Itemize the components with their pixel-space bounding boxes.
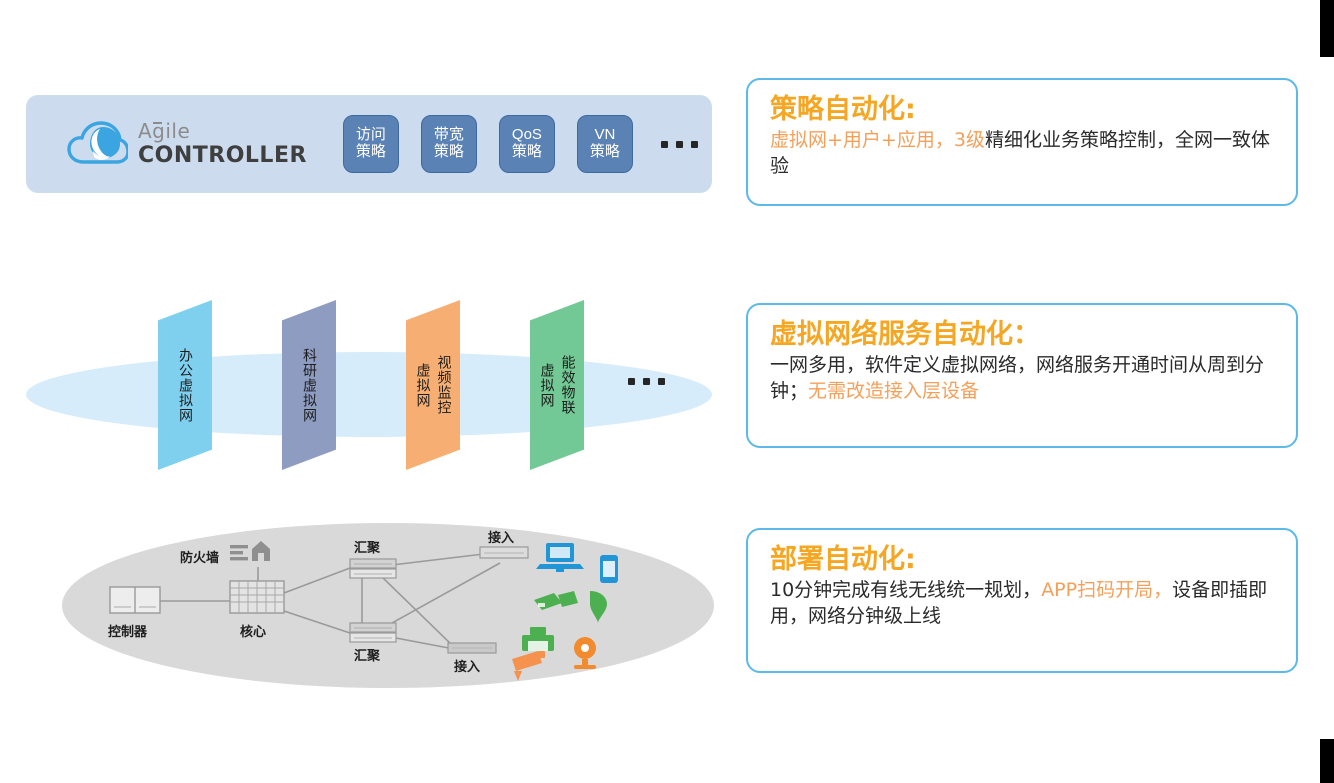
policy-chip-qos[interactable]: QoS 策略 [499,115,555,173]
access-switch-bottom-icon [448,643,496,653]
topology-label-aggregation-bottom: 汇聚 [354,645,380,664]
logo-controller-text: CONTROLLER [138,145,307,167]
topology-links [160,553,500,649]
info-card-virtual-network-automation: 虚拟网络服务自动化： 一网多用，软件定义虚拟网络，网络服务开通时间从周到分钟；无… [746,303,1298,448]
virtual-network-plane-energy: 虚拟网 能效物联 [530,300,584,470]
webcam-icon [574,637,596,669]
topology-label-aggregation-top: 汇聚 [354,537,380,556]
card-body: 10分钟完成有线无线统一规划，APP扫码开局，设备即插即用，网络分钟级上线 [770,578,1276,629]
agile-controller-logo: Agile CONTROLLER [66,118,307,170]
logo-agile-text: Agile [138,121,190,141]
virtual-network-plane-research: 科研虚拟网 [282,300,336,470]
card-body-highlight: 虚拟网+用户+应用，3级 [770,129,985,151]
card-body: 虚拟网+用户+应用，3级精细化业务策略控制，全网一致体验 [770,128,1276,179]
dot-icon [658,378,665,385]
vn-plane-label: 视频监控 [434,355,454,415]
card-body-highlight: 无需改造接入层设备 [808,380,979,402]
policy-chip-row: 访问 策略 带宽 策略 QoS 策略 VN 策略 [343,115,698,173]
card-title: 策略自动化: [770,94,1276,125]
slide-canvas: Agile CONTROLLER 访问 策略 带宽 策略 QoS 策略 VN 策… [0,0,1334,783]
core-switch-node-icon [230,581,284,613]
virtual-network-plane-office: 办公虚拟网 [158,300,212,470]
vn-plane-label-secondary: 虚拟网 [413,363,433,408]
policy-chip-access[interactable]: 访问 策略 [343,115,399,173]
scanner-icon [534,591,578,610]
policy-chip-line1: VN [595,127,616,144]
info-card-deployment-automation: 部署自动化: 10分钟完成有线无线统一规划，APP扫码开局，设备即插即用，网络分… [746,528,1298,673]
policy-chip-vn[interactable]: VN 策略 [577,115,633,173]
dot-icon [628,378,635,385]
card-body: 一网多用，软件定义虚拟网络，网络服务开通时间从周到分钟；无需改造接入层设备 [770,353,1276,404]
topology-label-firewall: 防火墙 [180,547,219,566]
dot-icon [691,141,698,148]
macron-mark [153,122,162,124]
topology-label-core: 核心 [240,621,266,640]
policy-chip-line2: 策略 [356,144,386,161]
cctv-camera-icon [512,651,545,681]
logo-agile-label: Agile [138,119,190,143]
policy-chip-line2: 策略 [434,144,464,161]
info-card-policy-automation: 策略自动化: 虚拟网+用户+应用，3级精细化业务策略控制，全网一致体验 [746,78,1298,206]
sensor-icon [590,591,607,623]
policy-chip-bandwidth[interactable]: 带宽 策略 [421,115,477,173]
smartphone-icon [600,555,618,583]
network-topology-diagram: 控制器 防火墙 核心 汇聚 汇聚 接入 接入 [62,523,714,688]
policy-chip-line1: 访问 [356,127,386,144]
agile-controller-wordmark: Agile CONTROLLER [138,121,307,167]
aggregation-switch-top-icon [350,559,396,578]
policy-chip-line1: 带宽 [434,127,464,144]
dot-icon [676,141,683,148]
bottom-right-black-bar [1320,739,1334,783]
virtual-network-plane-video: 虚拟网 视频监控 [406,300,460,470]
virtual-network-more-dots-icon [628,378,665,385]
card-body-highlight: APP扫码开局， [1041,579,1172,601]
topology-graphic [62,523,714,688]
network-fabric-ellipse [26,352,712,437]
vn-plane-label-secondary: 虚拟网 [537,363,557,408]
cloud-swirl-icon [66,118,128,170]
policy-chip-line1: QoS [512,127,542,144]
access-switch-top-icon [480,547,528,558]
card-title: 虚拟网络服务自动化： [770,319,1276,350]
printer-icon [522,627,554,651]
vn-plane-label: 科研虚拟网 [299,348,319,423]
agile-controller-panel: Agile CONTROLLER 访问 策略 带宽 策略 QoS 策略 VN 策… [26,95,712,193]
topology-label-access-top: 接入 [488,527,514,546]
policy-chip-line2: 策略 [590,144,620,161]
card-body-plain: 10分钟完成有线无线统一规划， [770,579,1041,601]
aggregation-switch-bottom-icon [350,623,396,642]
dot-icon [661,141,668,148]
laptop-icon [536,543,584,572]
controller-node-icon [110,587,160,613]
firewall-node-icon [230,541,270,561]
topology-label-access-bottom: 接入 [454,656,480,675]
card-title: 部署自动化: [770,544,1276,575]
dot-icon [643,378,650,385]
top-right-black-bar [1320,0,1334,57]
vn-plane-label: 办公虚拟网 [175,348,195,423]
virtual-network-diagram: 办公虚拟网 科研虚拟网 虚拟网 视频监控 虚拟网 能效物联 [26,290,712,500]
topology-label-controller: 控制器 [108,621,147,640]
policy-chip-line2: 策略 [512,144,542,161]
vn-plane-label: 能效物联 [558,355,578,415]
policy-more-dots-icon [661,141,698,148]
